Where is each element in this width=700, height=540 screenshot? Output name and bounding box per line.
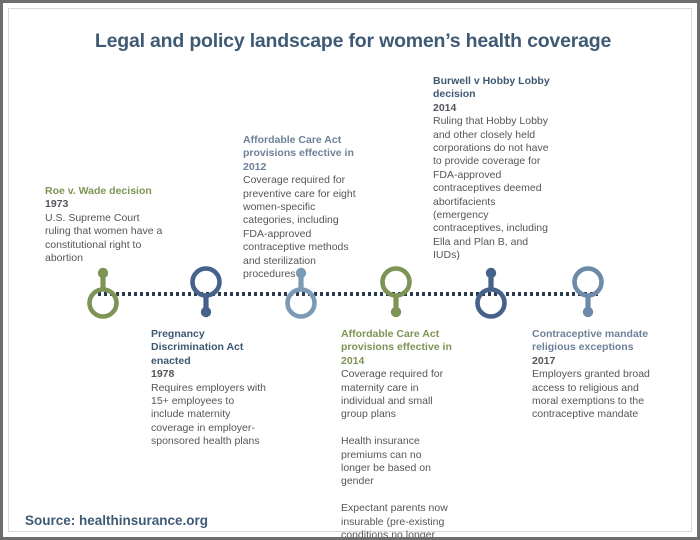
event-heading: Affordable Care Act provisions effective… <box>243 134 363 161</box>
event-year: 2012 <box>243 161 363 174</box>
event-block-roe-v-wade: Roe v. Wade decision 1973 U.S. Supreme C… <box>45 185 165 265</box>
event-paragraph: Employers granted broad access to religi… <box>532 368 650 422</box>
event-block-aca-2012: Affordable Care Act provisions effective… <box>243 134 363 281</box>
event-block-pregnancy-discrimination-act: Pregnancy Discrimination Act enacted 197… <box>151 328 269 449</box>
timeline-marker-burwell-hobby-lobby[interactable] <box>474 265 508 323</box>
female-symbol-icon <box>379 262 413 320</box>
event-paragraph: U.S. Supreme Court ruling that women hav… <box>45 212 165 266</box>
infographic-canvas: Legal and policy landscape for women’s h… <box>0 0 700 540</box>
timeline-dotted-line <box>98 292 598 296</box>
event-year: 2014 <box>433 102 550 115</box>
event-year: 2017 <box>532 355 650 368</box>
event-block-burwell-hobby-lobby: Burwell v Hobby Lobby decision 2014 Ruli… <box>433 75 550 263</box>
timeline-marker-roe-v-wade[interactable] <box>86 265 120 323</box>
event-heading: Burwell v Hobby Lobby decision <box>433 75 550 102</box>
event-paragraph: Coverage required for maternity care in … <box>341 368 453 422</box>
event-paragraph: Health insurance premiums can no longer … <box>341 435 453 489</box>
timeline-marker-aca-2014[interactable] <box>379 262 413 320</box>
event-paragraph: Coverage required for preventive care fo… <box>243 174 363 281</box>
female-symbol-icon <box>474 265 508 323</box>
event-block-aca-2014: Affordable Care Act provisions effective… <box>341 328 453 540</box>
event-paragraph: Requires employers with 15+ employees to… <box>151 382 269 449</box>
event-heading: Pregnancy Discrimination Act enacted <box>151 328 269 368</box>
event-heading: Contraceptive mandate religious exceptio… <box>532 328 650 355</box>
event-year: 1973 <box>45 198 165 211</box>
event-year: 1978 <box>151 368 269 381</box>
event-paragraph: Ruling that Hobby Lobby and other closel… <box>433 115 550 262</box>
female-symbol-icon <box>571 262 605 320</box>
event-block-contraceptive-mandate: Contraceptive mandate religious exceptio… <box>532 328 650 422</box>
event-paragraph: Expectant parents now insurable (pre-exi… <box>341 502 453 540</box>
event-heading: Affordable Care Act provisions effective… <box>341 328 453 355</box>
female-symbol-icon <box>86 265 120 323</box>
timeline-marker-pregnancy-discrimination-act[interactable] <box>189 262 223 320</box>
page-title: Legal and policy landscape for women’s h… <box>3 30 700 53</box>
source-label: Source: healthinsurance.org <box>25 513 208 528</box>
event-year: 2014 <box>341 355 453 368</box>
timeline-marker-contraceptive-mandate[interactable] <box>571 262 605 320</box>
female-symbol-icon <box>189 262 223 320</box>
event-heading: Roe v. Wade decision <box>45 185 165 198</box>
